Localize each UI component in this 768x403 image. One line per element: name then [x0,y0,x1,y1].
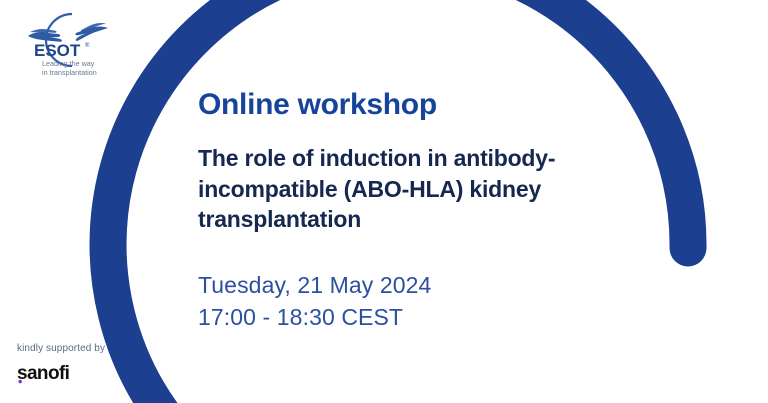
registered-mark: ® [85,42,90,49]
esot-tagline-line2: in transplantation [42,68,97,77]
sponsor-block: kindly supported by sanofi [17,343,147,384]
session-date: Tuesday, 21 May 2024 [198,269,668,302]
announcement-content: Online workshop The role of induction in… [198,88,668,334]
sanofi-wordmark: sanofi [17,363,69,384]
sponsor-label: kindly supported by [17,343,147,354]
session-time: 17:00 - 18:30 CEST [198,301,668,334]
workshop-subtitle: The role of induction in antibody-incomp… [198,143,668,235]
webinar-announcement-banner: ESOT ® Leading the way in transplantatio… [0,0,768,403]
sanofi-accent-dot [19,380,22,383]
esot-tagline-line1: Leading the way [42,59,95,68]
page-title: Online workshop [198,88,668,121]
esot-logo: ESOT ® Leading the way in transplantatio… [14,10,122,80]
esot-wordmark: ESOT [34,41,81,60]
sanofi-logo: sanofi [17,362,89,384]
